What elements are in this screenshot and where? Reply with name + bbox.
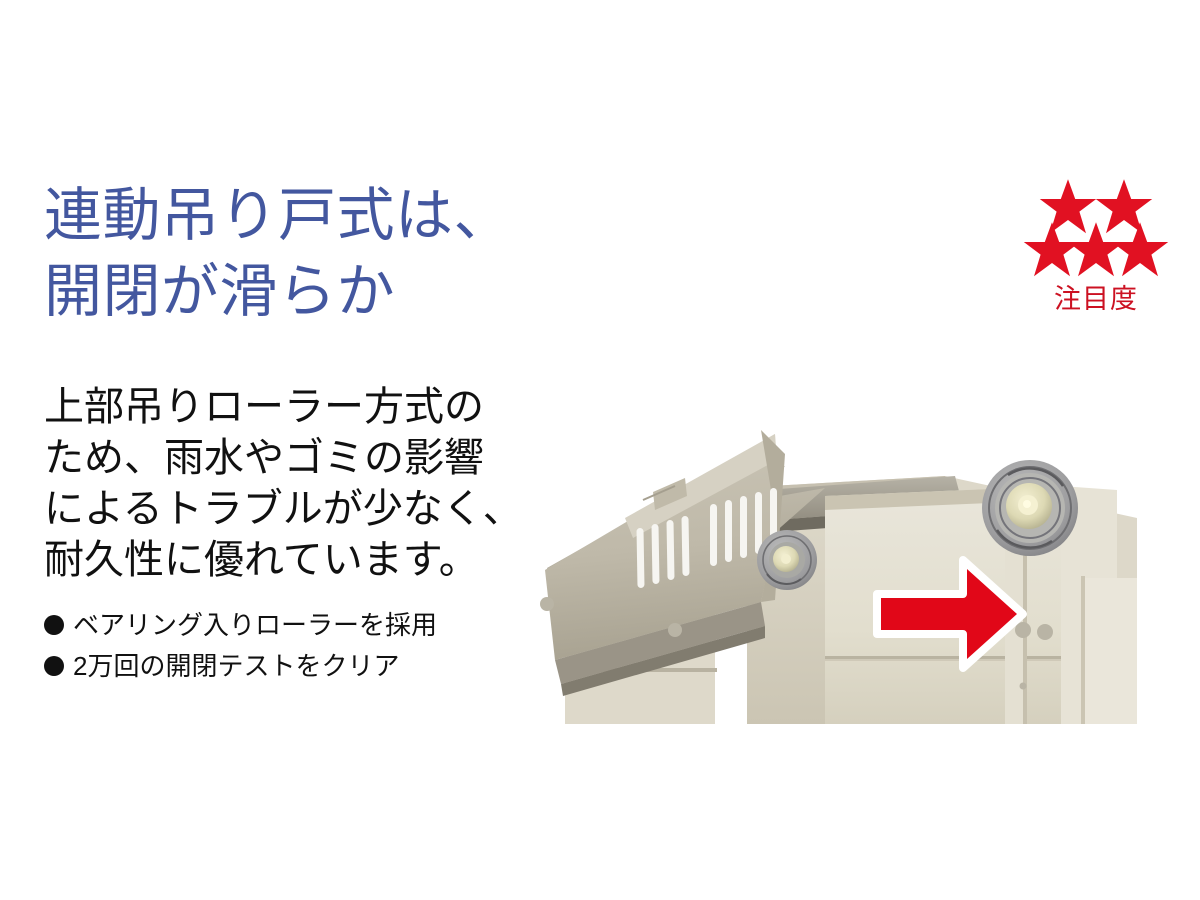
list-item-label: ベアリング入りローラーを採用 (73, 610, 437, 640)
body-line-4: 耐久性に優れています。 (44, 535, 514, 586)
body-line-1: 上部吊りローラー方式の (44, 382, 514, 433)
list-item: 2万回の開閉テストをクリア (44, 645, 514, 686)
list-item: ベアリング入りローラーを採用 (44, 604, 514, 645)
headline-line-1: 連動吊り戸式は、 (44, 178, 604, 254)
body-line-3: によるトラブルが少なく、 (44, 484, 514, 535)
status-badge: 注目度 (1020, 178, 1172, 314)
roller-small (757, 530, 817, 590)
page-title: 連動吊り戸式は、 開閉が滑らか (44, 178, 604, 330)
list-item-label: 2万回の開閉テストをクリア (73, 651, 399, 681)
body-line-2: ため、雨水やゴミの影響 (44, 433, 514, 484)
headline-line-2: 開閉が滑らか (44, 254, 604, 330)
bullet-dot-icon (44, 615, 64, 635)
body-paragraph: 上部吊りローラー方式の ため、雨水やゴミの影響 によるトラブルが少なく、 耐久性… (44, 382, 514, 586)
feature-list: ベアリング入りローラーを採用 2万回の開閉テストをクリア (44, 604, 514, 686)
product-photo (525, 368, 1137, 724)
promo-panel: 連動吊り戸式は、 開閉が滑らか 上部吊りローラー方式の ため、雨水やゴミの影響 … (0, 0, 1200, 900)
star-icon (1110, 221, 1170, 278)
status-badge-label: 注目度 (1020, 284, 1172, 314)
roller-large (982, 460, 1078, 556)
badge-stars-bottom-row (1020, 221, 1172, 278)
product-photo-illustration (525, 368, 1137, 724)
bullet-dot-icon (44, 656, 64, 676)
